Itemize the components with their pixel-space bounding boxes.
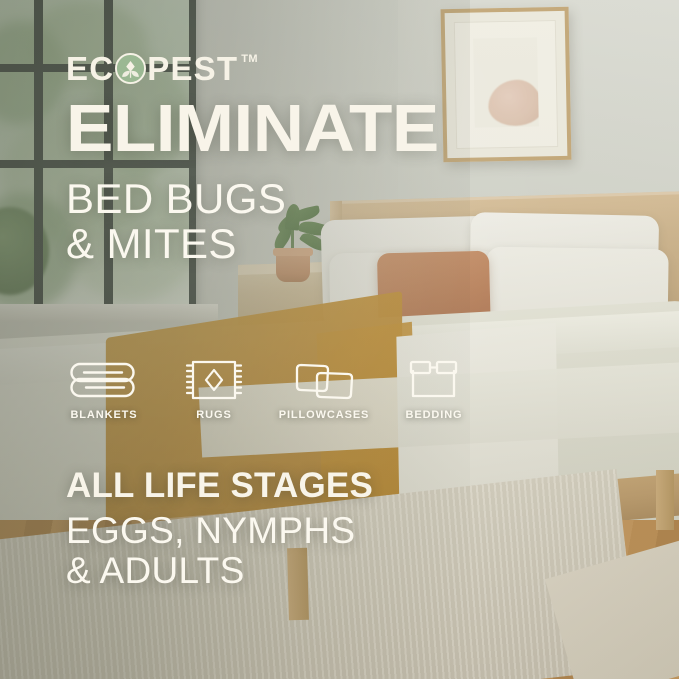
brand-logo: EC PEST TM — [66, 52, 679, 86]
surface-item-blankets: BLANKETS — [62, 358, 146, 421]
surface-label-rugs: RUGS — [196, 409, 231, 421]
brand-name-prefix: EC — [66, 52, 114, 85]
surface-icon-strip: BLANKETS RUGS — [62, 358, 476, 421]
surface-label-blankets: BLANKETS — [70, 409, 137, 421]
product-banner: EC PEST TM ELIMINATE BED BUGS & MITES — [0, 0, 679, 679]
hero-subheading-line-1: BED BUGS — [66, 176, 679, 221]
two-pillows-icon — [291, 358, 357, 402]
life-stages-title: ALL LIFE STAGES — [66, 468, 373, 505]
surface-item-rugs: RUGS — [172, 358, 256, 421]
life-stages-block: ALL LIFE STAGES EGGS, NYMPHS & ADULTS — [66, 468, 373, 592]
hero-subheading: BED BUGS & MITES — [66, 176, 679, 267]
page-title: ELIMINATE — [66, 98, 679, 160]
life-stages-line-2: & ADULTS — [66, 551, 373, 592]
bed-with-pillows-icon — [406, 358, 462, 402]
surface-label-bedding: BEDDING — [405, 409, 462, 421]
hero-subheading-line-2: & MITES — [66, 221, 679, 266]
folded-blanket-icon — [67, 358, 141, 402]
leaf-circle-icon — [115, 53, 146, 84]
surface-label-pillowcases: PILLOWCASES — [279, 409, 370, 421]
trademark-symbol: TM — [241, 53, 258, 65]
life-stages-line-1: EGGS, NYMPHS — [66, 511, 373, 552]
surface-item-bedding: BEDDING — [392, 358, 476, 421]
rug-diamond-icon — [183, 358, 245, 402]
life-stages-detail: EGGS, NYMPHS & ADULTS — [66, 511, 373, 592]
surface-item-pillowcases: PILLOWCASES — [282, 358, 366, 421]
brand-name-suffix: PEST — [147, 52, 238, 85]
